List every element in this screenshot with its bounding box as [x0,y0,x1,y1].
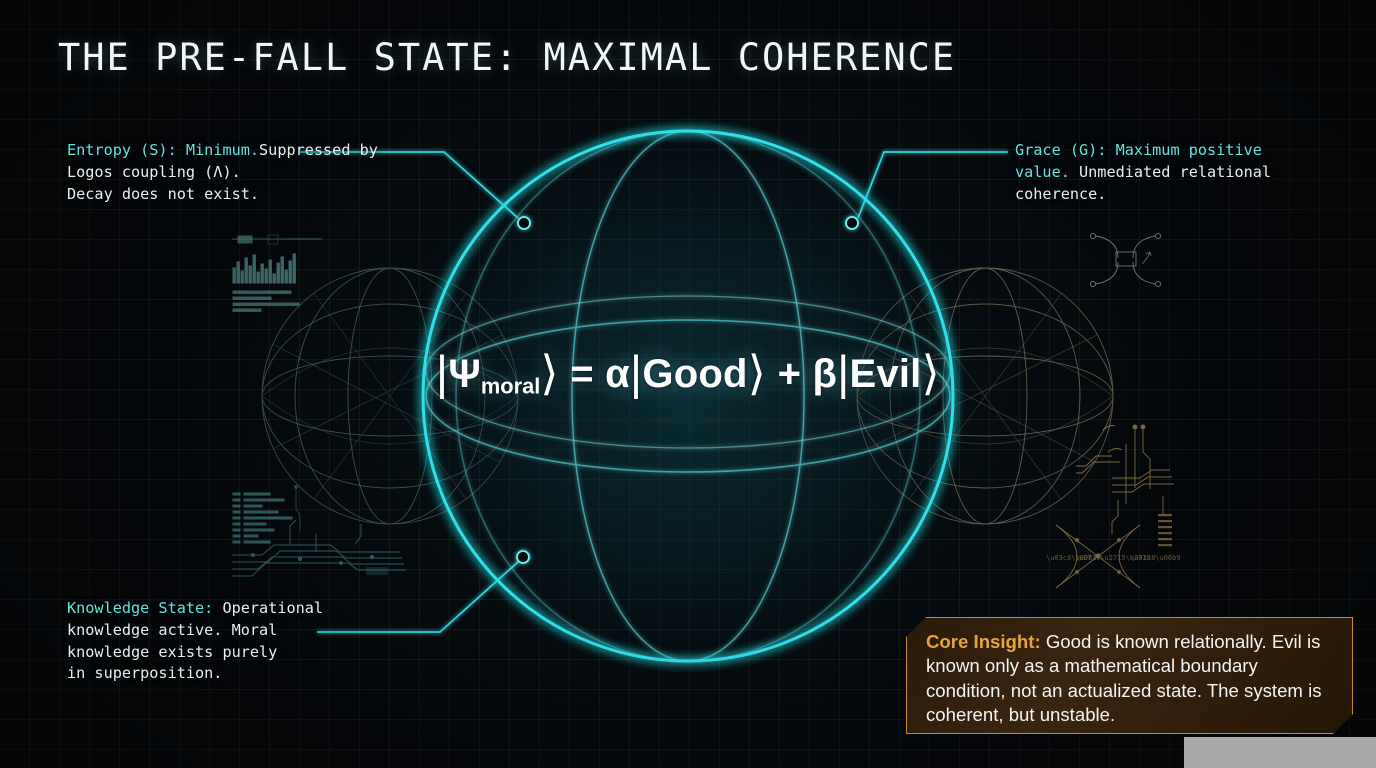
moral-state-equation: |Ψmoral⟩ = α|Good⟩ + β|Evil⟩ [0,352,1376,400]
infographic-canvas: \u03c8\u00b2 \u2715\u2715\u2715 \u03c8\u… [0,0,1376,768]
core-insight-lead: Core Insight: [926,631,1041,652]
ket-bar-open: | [436,347,448,400]
page-title: THE PRE-FALL STATE: MAXIMAL COHERENCE [58,36,956,79]
grace-annotation: Grace (G): Maximum positive value. Unmed… [1015,140,1315,205]
svg-text:\u03c8\u00b9: \u03c8\u00b9 [1130,554,1181,562]
lens-motif-decoration: \u03c8\u00b2 \u2715\u2715\u2715 \u03c8\u… [1046,525,1181,588]
marker-knowledge [517,551,529,563]
circuit-trace-decoration-right [1076,425,1174,546]
circuit-trace-decoration-left [232,485,406,576]
leader-line-grace [858,152,1008,218]
equation-plus: + [778,352,802,396]
equation-subscript: moral [481,374,540,399]
node-diagram-decoration [1090,233,1160,286]
equation-psi: Ψ [448,352,481,396]
ket-bar-evil: | [837,347,849,400]
leader-markers [517,217,858,563]
sphere-core-glow [388,96,988,696]
marker-grace [846,217,858,229]
bottom-right-overlay-bar [1184,737,1376,768]
entropy-annotation: Entropy (S): Minimum.Suppressed by Logos… [67,140,427,205]
sphere-wireframe-inner [426,131,950,661]
core-insight-panel: Core Insight: Good is known relationally… [906,617,1353,734]
equation-evil: Evil [850,352,922,396]
knowledge-annotation: Knowledge State: Operational knowledge a… [67,598,397,685]
ket-close-1: ⟩ [540,347,559,400]
ket-close-3: ⟩ [922,347,941,400]
sphere-wireframe-parallel [426,296,950,448]
knowledge-annotation-highlight: Knowledge State: [67,599,213,617]
sphere-outline [423,131,953,661]
ket-close-2: ⟩ [748,347,767,400]
svg-text:\u03c8\u00b2: \u03c8\u00b2 [1046,554,1097,562]
ghost-sphere-right [857,268,1113,524]
equation-beta: β [812,352,837,396]
svg-text:\u2715\u2715\u2715: \u2715\u2715\u2715 [1075,554,1151,562]
leader-lines [300,152,1008,632]
equation-good: Good [642,352,747,396]
ket-bar-good: | [630,347,642,400]
marker-entropy [518,217,530,229]
entropy-annotation-highlight: Entropy (S): Minimum. [67,141,259,159]
equation-operator: = [570,352,594,396]
mini-bar-chart-decoration [232,235,322,311]
equation-alpha: α [605,352,630,396]
ghost-sphere-left [262,268,518,524]
